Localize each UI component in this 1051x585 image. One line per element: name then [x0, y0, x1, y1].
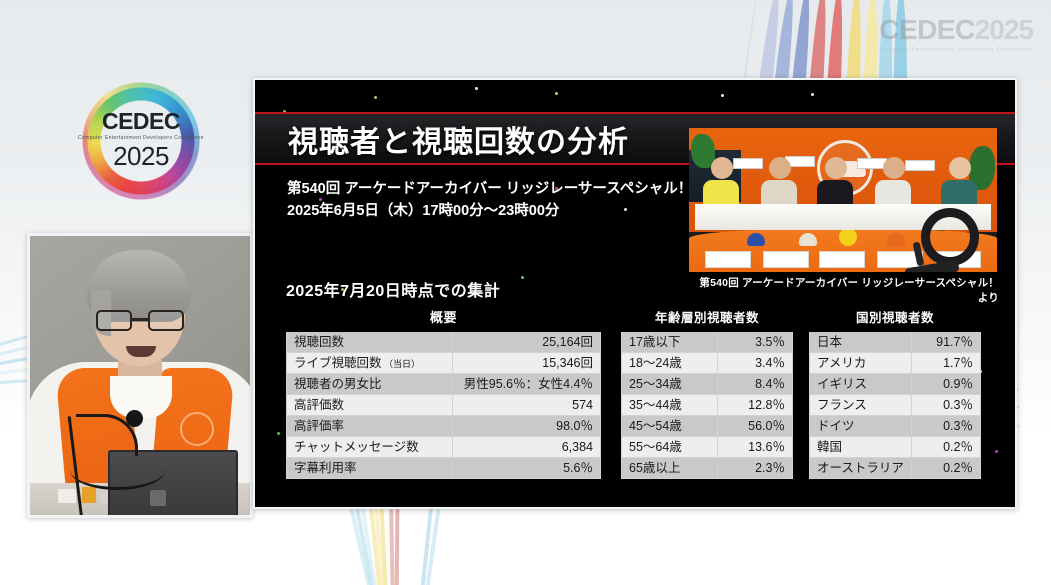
row-value: 15,346回	[453, 353, 601, 374]
header-wordmark-year: 2025	[975, 14, 1033, 45]
row-value: 0.2％	[911, 458, 980, 479]
logo-wordmark: CEDEC	[78, 110, 204, 133]
table-row: ドイツ0.3％	[810, 416, 981, 437]
summary-table-header: 概要	[287, 303, 601, 332]
cedec-header-logo: CEDEC2025 Computer Entertainment Develop…	[879, 16, 1033, 53]
row-label: 25〜34歳	[622, 374, 718, 395]
speaker-camera-feed	[27, 233, 253, 518]
thumbnail-caption: 第540回 アーケードアーカイバー リッジレーサースペシャル！より	[689, 275, 999, 305]
summary-table-body: 視聴回数25,164回ライブ視聴回数 （当日）15,346回視聴者の男女比男性9…	[287, 332, 601, 479]
table-row: 日本91.7％	[810, 332, 981, 353]
row-value: 0.2％	[911, 437, 980, 458]
table-row: 韓国0.2％	[810, 437, 981, 458]
microphone-head	[126, 410, 143, 427]
logo-year: 2025	[78, 143, 204, 169]
row-label: 高評価率	[287, 416, 453, 437]
table-row: 17歳以下3.5％	[622, 332, 793, 353]
header-tagline: Computer Entertainment Developers Confer…	[879, 47, 1033, 53]
row-label: 日本	[810, 332, 912, 353]
row-value: 574	[453, 395, 601, 416]
speaker-glasses	[96, 310, 184, 332]
speaker-collar	[110, 376, 172, 418]
table-row: 35〜44歳12.8％	[622, 395, 793, 416]
row-value: 0.9％	[911, 374, 980, 395]
row-value: 0.3％	[911, 416, 980, 437]
subtitle-line-1: 第540回 アーケードアーカイバー リッジレーサースペシャル！	[287, 179, 707, 201]
row-value: 6,384	[453, 437, 601, 458]
table-row: 高評価率98.0％	[287, 416, 601, 437]
row-value: 1.7％	[911, 353, 980, 374]
racing-wheel	[905, 208, 979, 272]
table-row: 65歳以上2.3％	[622, 458, 793, 479]
row-value: 25,164回	[453, 332, 601, 353]
row-label: 字幕利用率	[287, 458, 453, 479]
slide-title: 視聴者と視聴回数の分析	[288, 117, 629, 161]
row-label: 45〜54歳	[622, 416, 718, 437]
table-row: ライブ視聴回数 （当日）15,346回	[287, 353, 601, 374]
table-row: 視聴者の男女比男性95.6％：女性4.4％	[287, 374, 601, 395]
table-row: フランス0.3％	[810, 395, 981, 416]
table-row: イギリス0.9％	[810, 374, 981, 395]
row-label: チャットメッセージ数	[287, 437, 453, 458]
row-label: 17歳以下	[622, 332, 718, 353]
table-row: 55〜64歳13.6％	[622, 437, 793, 458]
subtitle-line-2: 2025年6月5日（木）17時00分〜23時00分	[287, 201, 707, 223]
country-table-header: 国別視聴者数	[810, 303, 981, 332]
row-value: 3.5％	[717, 332, 792, 353]
row-value: 2.3％	[717, 458, 792, 479]
age-table: 年齢層別視聴者数 17歳以下3.5％18〜24歳3.4％25〜34歳8.4％35…	[621, 302, 793, 479]
row-value: 13.6％	[717, 437, 792, 458]
row-label: 55〜64歳	[622, 437, 718, 458]
row-label: 韓国	[810, 437, 912, 458]
row-value: 98.0％	[453, 416, 601, 437]
table-row: 45〜54歳56.0％	[622, 416, 793, 437]
table-row: アメリカ1.7％	[810, 353, 981, 374]
header-wordmark-text: CEDEC	[879, 14, 975, 45]
slide-subtitle: 第540回 アーケードアーカイバー リッジレーサースペシャル！ 2025年6月5…	[287, 179, 707, 223]
row-label-note: （当日）	[382, 359, 421, 369]
row-value: 8.4％	[717, 374, 792, 395]
row-label: 視聴回数	[287, 332, 453, 353]
slide-canvas: 視聴者と視聴回数の分析 第540回 アーケードアーカイバー リッジレーサースペシ…	[253, 78, 1017, 509]
row-value: 12.8％	[717, 395, 792, 416]
summary-table: 概要 視聴回数25,164回ライブ視聴回数 （当日）15,346回視聴者の男女比…	[286, 302, 601, 479]
row-label: 35〜44歳	[622, 395, 718, 416]
row-label: フランス	[810, 395, 912, 416]
table-row: 18〜24歳3.4％	[622, 353, 793, 374]
table-row: 視聴回数25,164回	[287, 332, 601, 353]
age-table-body: 17歳以下3.5％18〜24歳3.4％25〜34歳8.4％35〜44歳12.8％…	[622, 332, 793, 479]
row-value: 0.3％	[911, 395, 980, 416]
broadcast-thumbnail	[689, 128, 997, 272]
row-label: オーストラリア	[810, 458, 912, 479]
country-table: 国別視聴者数 日本91.7％アメリカ1.7％イギリス0.9％フランス0.3％ドイ…	[809, 302, 981, 479]
row-value: 3.4％	[717, 353, 792, 374]
table-row: 25〜34歳8.4％	[622, 374, 793, 395]
row-label: イギリス	[810, 374, 912, 395]
age-table-header: 年齢層別視聴者数	[622, 303, 793, 332]
table-row: 字幕利用率5.6％	[287, 458, 601, 479]
table-row: 高評価数574	[287, 395, 601, 416]
row-label: アメリカ	[810, 353, 912, 374]
table-row: チャットメッセージ数6,384	[287, 437, 601, 458]
cable	[70, 450, 165, 490]
country-table-body: 日本91.7％アメリカ1.7％イギリス0.9％フランス0.3％ドイツ0.3％韓国…	[810, 332, 981, 479]
row-value: 56.0％	[717, 416, 792, 437]
cedec-round-logo: CEDEC Computer Entertainment Developers …	[78, 88, 204, 194]
table-row: オーストラリア0.2％	[810, 458, 981, 479]
tally-heading: 2025年7月20日時点での集計	[286, 277, 500, 301]
row-label: 視聴者の男女比	[287, 374, 453, 395]
vest-logo	[180, 412, 214, 446]
row-value: 91.7％	[911, 332, 980, 353]
row-label: ドイツ	[810, 416, 912, 437]
row-label: 高評価数	[287, 395, 453, 416]
row-label: 18〜24歳	[622, 353, 718, 374]
row-label: ライブ視聴回数 （当日）	[287, 353, 453, 374]
presentation-stream: CEDEC2025 Computer Entertainment Develop…	[0, 0, 1051, 585]
row-value: 5.6％	[453, 458, 601, 479]
row-value: 男性95.6％：女性4.4％	[453, 374, 601, 395]
row-label: 65歳以上	[622, 458, 718, 479]
